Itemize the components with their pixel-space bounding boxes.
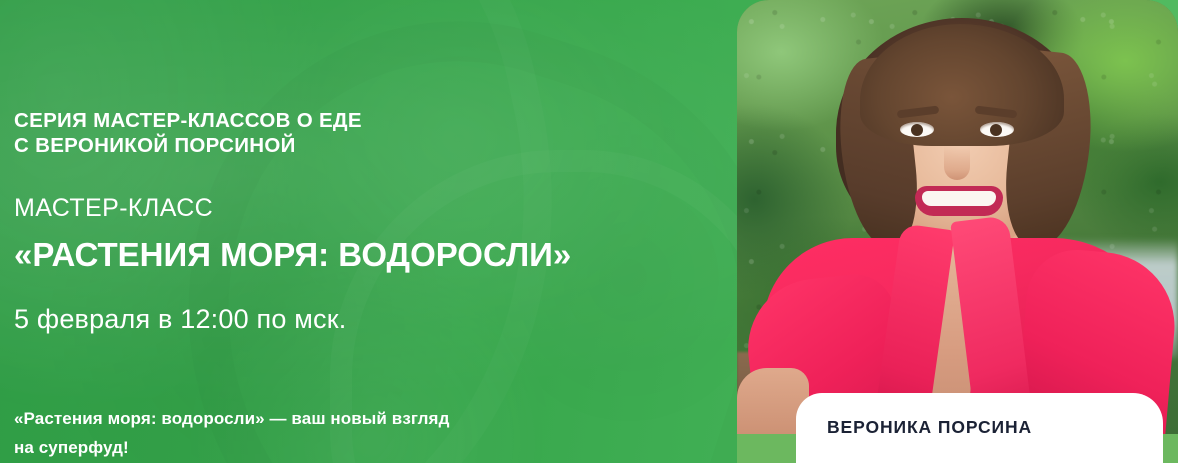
event-kicker: МАСТЕР-КЛАСС (14, 193, 213, 223)
pupil-right (990, 124, 1002, 136)
series-heading: СЕРИЯ МАСТЕР-КЛАССОВ О ЕДЕ С ВЕРОНИКОЙ П… (14, 108, 362, 158)
speaker-photo-frame (737, 0, 1178, 434)
page-title: «РАСТЕНИЯ МОРЯ: ВОДОРОСЛИ» (14, 235, 571, 275)
speaker-portrait (737, 0, 1178, 434)
webinar-promo-banner: СЕРИЯ МАСТЕР-КЛАССОВ О ЕДЕ С ВЕРОНИКОЙ П… (0, 0, 1178, 463)
promo-text-column: СЕРИЯ МАСТЕР-КЛАССОВ О ЕДЕ С ВЕРОНИКОЙ П… (14, 0, 714, 463)
speaker-name: ВЕРОНИКА ПОРСИНА (827, 417, 1032, 438)
teeth (922, 191, 996, 206)
speaker-name-card: ВЕРОНИКА ПОРСИНА (796, 393, 1163, 463)
mouth (915, 186, 1003, 216)
event-datetime: 5 февраля в 12:00 по мск. (14, 303, 346, 336)
promo-tagline: «Растения моря: водоросли» — ваш новый в… (14, 404, 449, 462)
pupil-left (911, 124, 923, 136)
nose (944, 146, 970, 180)
